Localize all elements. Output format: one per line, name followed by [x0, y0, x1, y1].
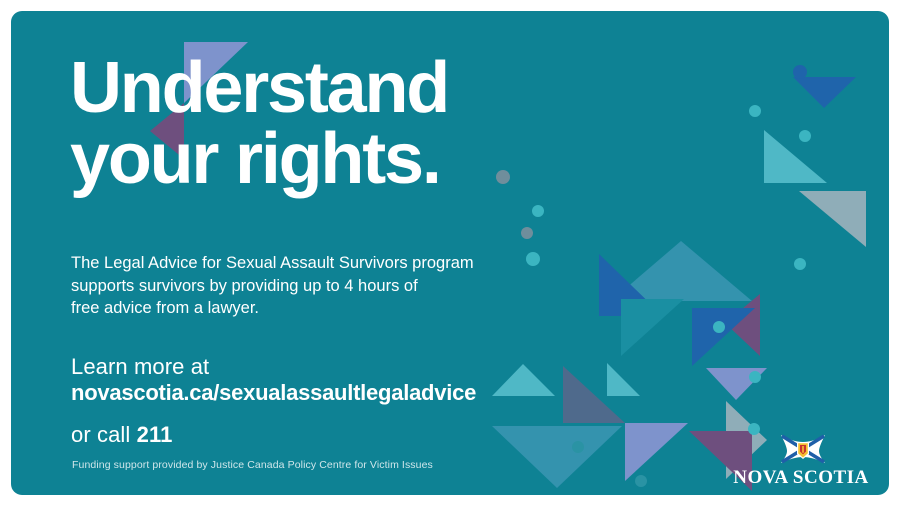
nova-scotia-flag-icon [781, 435, 825, 463]
nova-scotia-logo: NOVA SCOTIA [727, 431, 875, 487]
program-description: The Legal Advice for Sexual Assault Surv… [71, 252, 541, 320]
cta-lead-text: Learn more at [71, 354, 591, 380]
funding-note: Funding support provided by Justice Cana… [72, 459, 433, 471]
website-link[interactable]: novascotia.ca/sexualassaultlegaladvice [71, 380, 591, 406]
phone-number[interactable]: 211 [137, 422, 173, 447]
poster-content: Understand your rights. The Legal Advice… [11, 11, 889, 495]
logo-wordmark: NOVA SCOTIA [733, 467, 869, 487]
phone-line: or call 211 [71, 422, 591, 448]
page-title: Understand your rights. [70, 53, 590, 196]
phone-prefix: or call [71, 422, 137, 447]
poster-card: Understand your rights. The Legal Advice… [11, 11, 889, 495]
call-to-action: Learn more at novascotia.ca/sexualassaul… [71, 354, 591, 448]
